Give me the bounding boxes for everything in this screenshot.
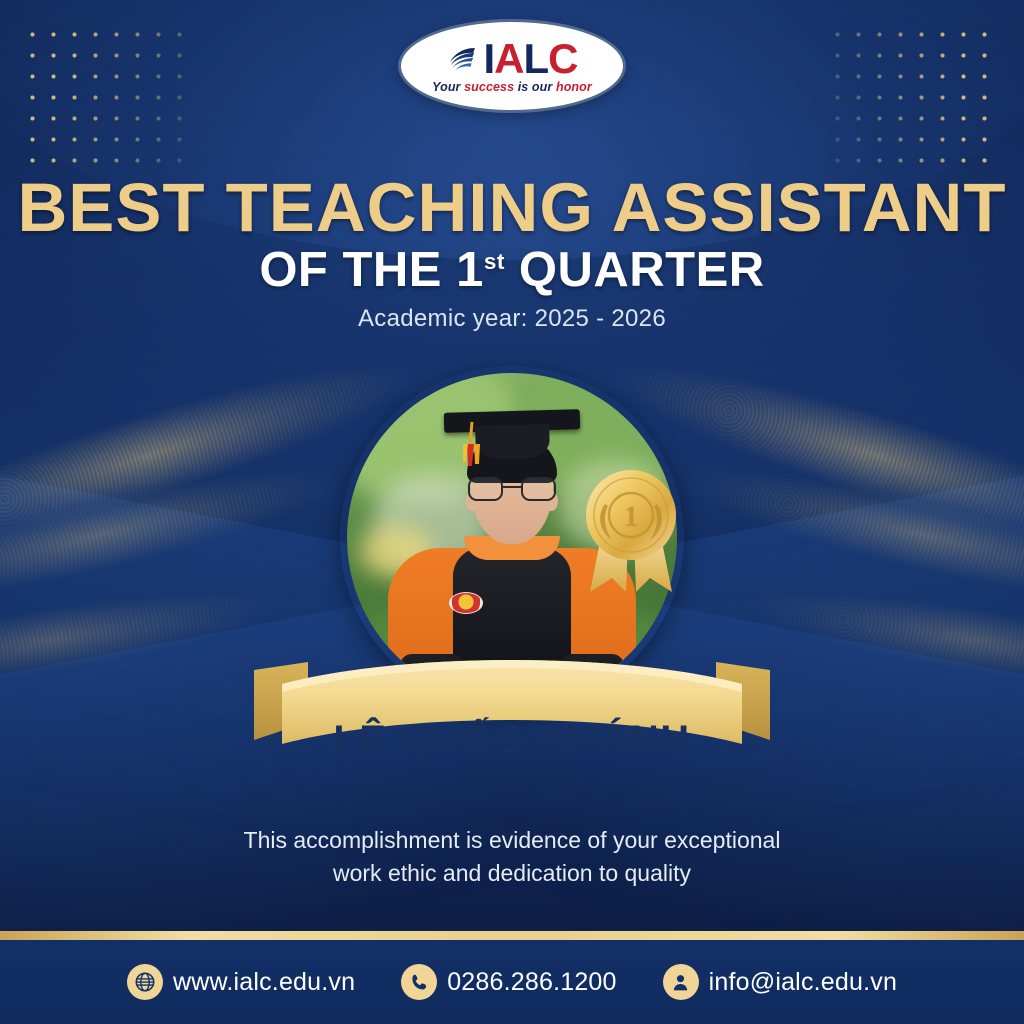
congratulation-message: This accomplishment is evidence of your … — [0, 824, 1024, 889]
recipient-name: LÊ QUỐC KHÁNH — [252, 718, 772, 763]
glasses-lens-right — [521, 477, 556, 501]
logo-letter-l: L — [524, 35, 549, 82]
footer-phone[interactable]: 0286.286.1200 — [401, 964, 616, 1000]
name-ribbon: LÊ QUỐC KHÁNH — [252, 648, 772, 798]
tagline-word-1: Your — [432, 80, 460, 94]
tagline-word-4: honor — [556, 80, 592, 94]
logo-wordmark: IALC — [483, 40, 577, 79]
brand-logo: IALC Your success is our honor — [401, 22, 623, 110]
tagline-word-3: is our — [518, 80, 553, 94]
logo-letter-i: I — [483, 35, 494, 82]
dot-grid-top-right — [827, 24, 1002, 174]
academic-year-label: Academic year: 2025 - 2026 — [0, 305, 1024, 333]
footer-email[interactable]: info@ialc.edu.vn — [663, 964, 897, 1000]
footer-website-text: www.ialc.edu.vn — [173, 968, 355, 997]
globe-swoosh-icon — [446, 42, 480, 76]
glasses-bridge — [503, 486, 521, 488]
message-line-2: work ethic and dedication to quality — [0, 857, 1024, 890]
footer-website[interactable]: www.ialc.edu.vn — [127, 964, 355, 1000]
logo-letter-c: C — [548, 35, 577, 82]
award-headline: BEST TEACHING ASSISTANT — [0, 168, 1024, 247]
logo-tagline: Your success is our honor — [432, 80, 592, 94]
logo-letter-a: A — [494, 35, 523, 82]
subheadline-ordinal: st — [484, 249, 505, 274]
subheadline-tail: QUARTER — [519, 243, 765, 297]
glasses-icon — [468, 477, 556, 501]
glasses-lens-left — [468, 477, 503, 501]
gold-medal-icon: 1 — [572, 460, 690, 600]
tagline-word-2: success — [464, 80, 514, 94]
footer-gold-divider — [0, 931, 1024, 940]
award-subheadline: OF THE 1stQUARTER — [0, 242, 1024, 298]
award-poster: IALC Your success is our honor BEST TEAC… — [0, 0, 1024, 1024]
message-line-1: This accomplishment is evidence of your … — [0, 824, 1024, 857]
footer-email-text: info@ialc.edu.vn — [709, 968, 897, 997]
graduation-cap — [444, 409, 580, 433]
globe-icon — [127, 964, 163, 1000]
footer-phone-text: 0286.286.1200 — [447, 968, 616, 997]
person-icon — [663, 964, 699, 1000]
subheadline-main: OF THE 1 — [259, 243, 484, 297]
logo-row: IALC — [446, 40, 577, 79]
footer-bar: www.ialc.edu.vn 0286.286.1200 info@ialc.… — [0, 940, 1024, 1024]
svg-text:1: 1 — [624, 500, 639, 533]
dot-grid-top-left — [22, 24, 197, 174]
gown-emblem-badge — [449, 592, 483, 614]
phone-icon — [401, 964, 437, 1000]
